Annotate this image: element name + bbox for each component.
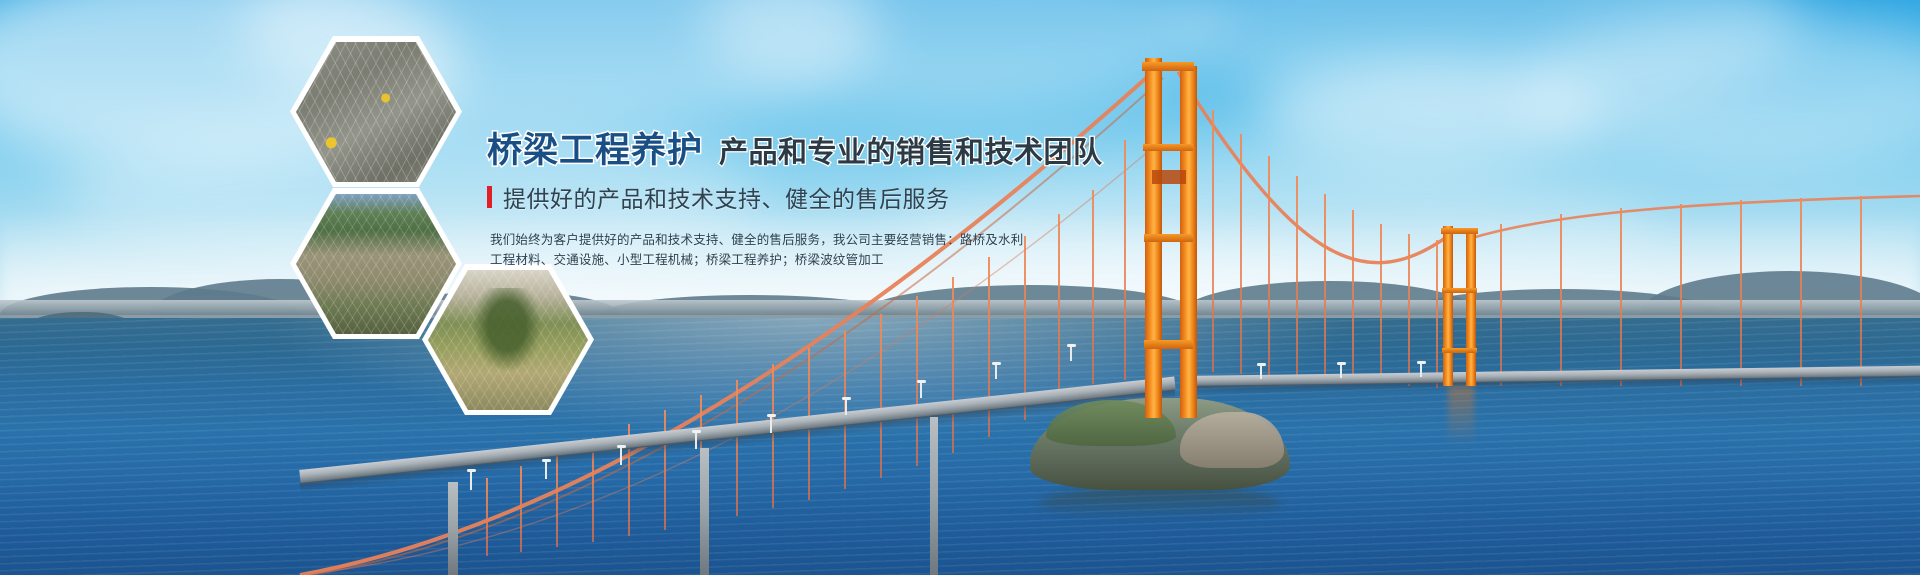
headline-primary: 桥梁工程养护 bbox=[487, 122, 703, 173]
headline-secondary: 产品和专业的销售和技术团队 bbox=[719, 129, 1103, 171]
banner-copy: 桥梁工程养护 产品和专业的销售和技术团队 提供好的产品和技术支持、健全的售后服务… bbox=[487, 122, 1127, 270]
tower-reflection bbox=[1448, 386, 1474, 446]
hero-banner: 桥梁工程养护 产品和专业的销售和技术团队 提供好的产品和技术支持、健全的售后服务… bbox=[0, 0, 1920, 575]
red-accent-bar bbox=[487, 186, 492, 208]
banner-headline: 桥梁工程养护 产品和专业的销售和技术团队 bbox=[487, 122, 1127, 168]
island-reflection bbox=[1040, 486, 1280, 520]
subheadline-text: 提供好的产品和技术支持、健全的售后服务 bbox=[503, 180, 950, 214]
suspension-bridge bbox=[0, 0, 1920, 575]
photo-tree bbox=[472, 288, 542, 372]
bridge-cables-svg bbox=[0, 0, 1920, 575]
paragraph-line-1: 我们始终为客户提供好的产品和技术支持、健全的售后服务，我公司主要经营销售：路桥及… bbox=[490, 230, 1127, 250]
paragraph-line-2: 工程材料、交通设施、小型工程机械；桥梁工程养护；桥梁波纹管加工 bbox=[490, 250, 1127, 270]
bridge-tower-main bbox=[1140, 58, 1200, 418]
banner-paragraph: 我们始终为客户提供好的产品和技术支持、健全的售后服务，我公司主要经营销售：路桥及… bbox=[490, 230, 1127, 270]
bridge-tower-far bbox=[1440, 226, 1480, 386]
banner-subheadline: 提供好的产品和技术支持、健全的售后服务 bbox=[487, 182, 1127, 212]
